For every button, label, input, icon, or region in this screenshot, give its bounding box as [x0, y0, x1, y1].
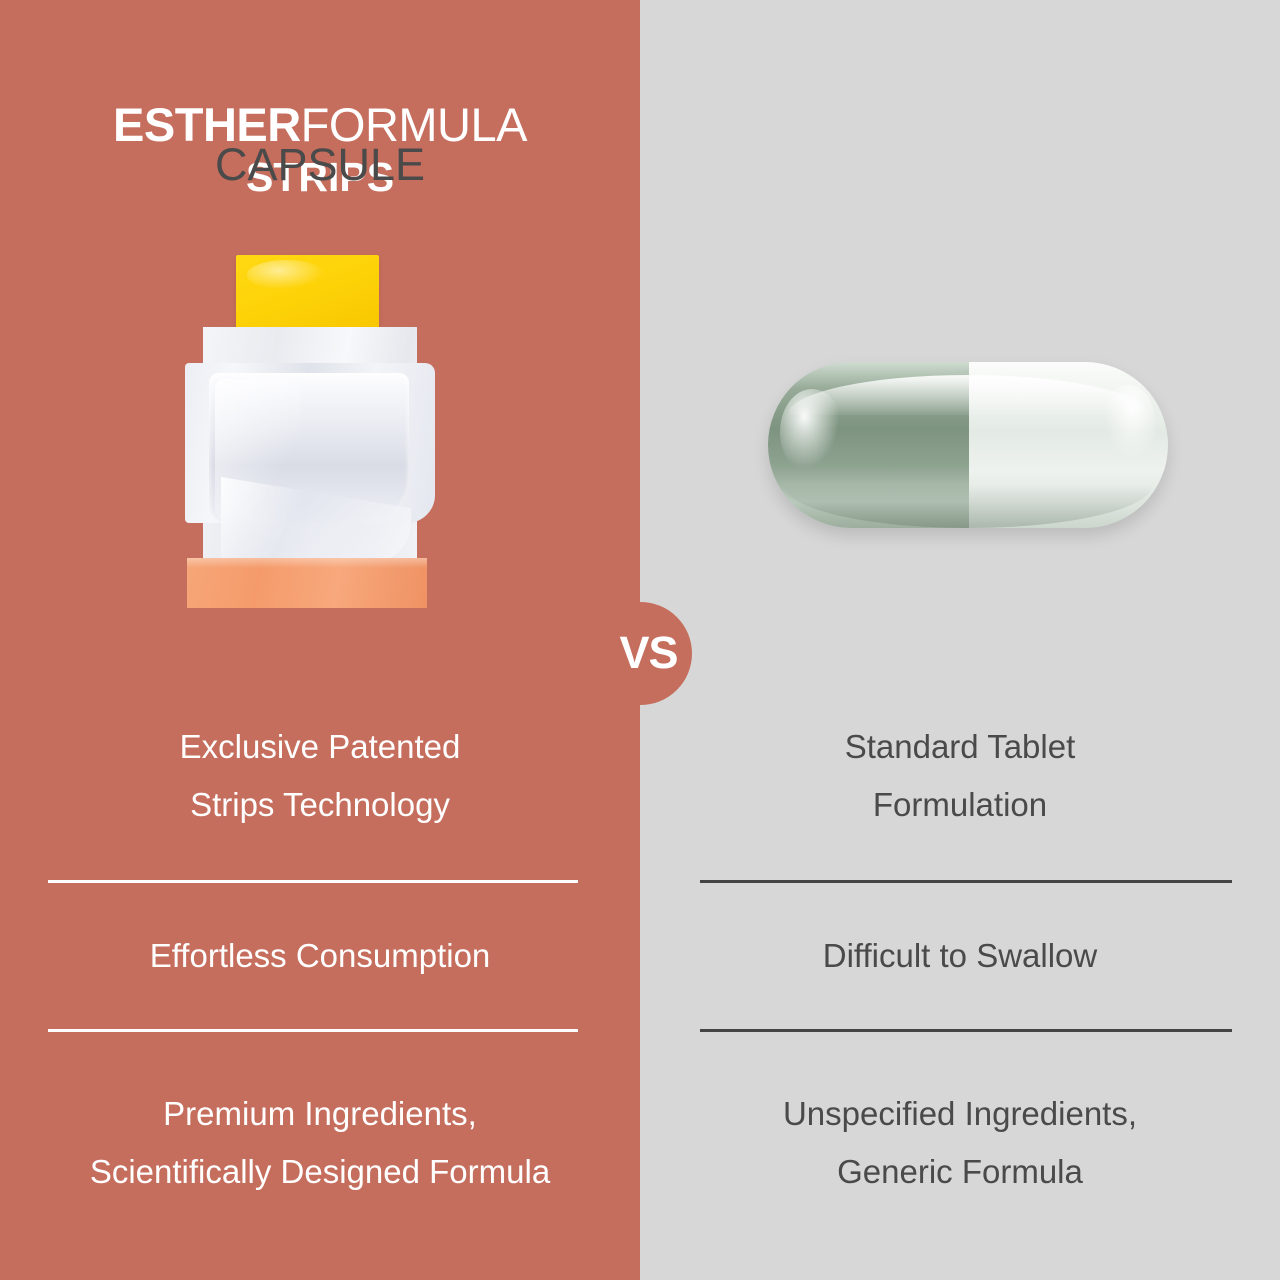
right-feature-3-line-2: Generic Formula — [640, 1143, 1280, 1201]
left-feature-2: Effortless Consumption — [0, 927, 640, 985]
capsule-left-highlight — [780, 389, 844, 475]
right-feature-1-line-2: Formulation — [640, 776, 1280, 834]
capsule-title: CAPSULE — [0, 138, 640, 192]
sachet-peach-base — [187, 558, 427, 608]
left-feature-1: Exclusive Patented Strips Technology — [0, 718, 640, 834]
comparison-infographic: ESTHERFORMULA STRIPS CAPSULE VS — [0, 0, 1280, 1280]
left-feature-1-line-1: Exclusive Patented — [0, 718, 640, 776]
left-feature-3: Premium Ingredients, Scientifically Desi… — [0, 1085, 640, 1201]
right-feature-1: Standard Tablet Formulation — [640, 718, 1280, 834]
left-feature-3-line-2: Scientifically Designed Formula — [0, 1143, 640, 1201]
right-feature-3-line-1: Unspecified Ingredients, — [640, 1085, 1280, 1143]
right-panel-header: CAPSULE — [0, 138, 640, 192]
right-feature-2-line-1: Difficult to Swallow — [640, 927, 1280, 985]
left-feature-2-line-1: Effortless Consumption — [0, 927, 640, 985]
right-feature-2: Difficult to Swallow — [640, 927, 1280, 985]
left-divider-1 — [48, 880, 578, 883]
left-feature-1-line-2: Strips Technology — [0, 776, 640, 834]
strips-sachet-image — [185, 255, 435, 610]
capsule-right-highlight — [1100, 385, 1156, 465]
capsule-shell — [768, 362, 1168, 528]
vs-label: VS — [619, 630, 677, 675]
right-divider-1 — [700, 880, 1232, 883]
sachet-body — [185, 327, 435, 610]
right-feature-1-line-1: Standard Tablet — [640, 718, 1280, 776]
right-feature-3: Unspecified Ingredients, Generic Formula — [640, 1085, 1280, 1201]
vs-badge: VS — [589, 602, 692, 705]
left-feature-3-line-1: Premium Ingredients, — [0, 1085, 640, 1143]
capsule-image — [768, 362, 1168, 528]
sachet-gloss-highlight — [215, 379, 301, 519]
right-divider-2 — [700, 1029, 1232, 1032]
left-divider-2 — [48, 1029, 578, 1032]
